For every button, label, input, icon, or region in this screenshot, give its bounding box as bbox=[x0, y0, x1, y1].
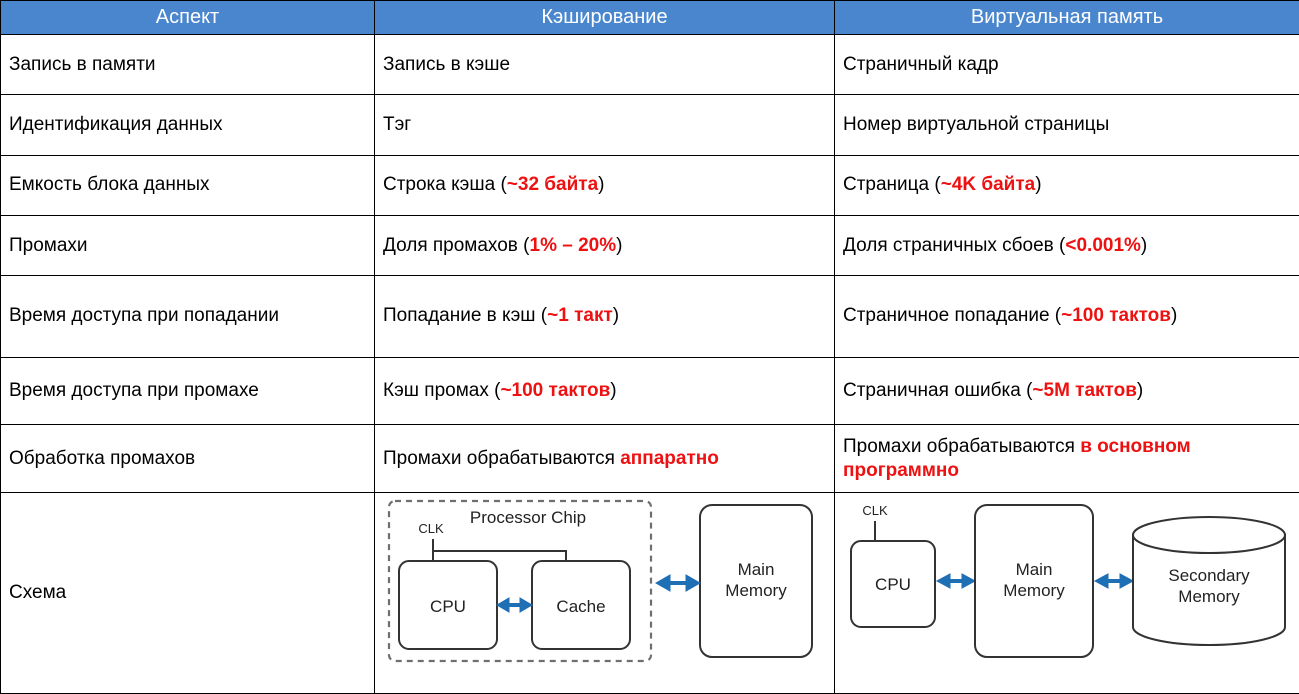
text-post: ) bbox=[1137, 380, 1143, 401]
text-post: ) bbox=[610, 380, 616, 401]
row-caching-value: Попадание в кэш (~1 такт) bbox=[375, 276, 835, 357]
text-pre: Доля страничных сбоев ( bbox=[843, 235, 1065, 256]
header-caching: Кэширование bbox=[375, 1, 835, 35]
header-aspect: Аспект bbox=[1, 1, 375, 35]
highlight-value: ~1 такт bbox=[547, 305, 613, 326]
table-row: Обработка промахов Промахи обрабатываютс… bbox=[1, 425, 1299, 493]
highlight-value: ~100 тактов bbox=[1061, 305, 1171, 326]
main-memory-label-line2: Memory bbox=[1003, 581, 1065, 600]
virtual-memory-diagram-cell: CLK CPU bbox=[835, 492, 1299, 693]
row-vm-value: Страничное попадание (~100 тактов) bbox=[835, 276, 1299, 357]
cpu-label: CPU bbox=[430, 597, 466, 616]
main-memory-label-line1: Main bbox=[1016, 560, 1053, 579]
text-pre: Строка кэша ( bbox=[383, 174, 507, 195]
table-row: Время доступа при попадании Попадание в … bbox=[1, 276, 1299, 357]
main-memory-label-line2: Memory bbox=[725, 581, 787, 600]
processor-chip-label: Processor Chip bbox=[470, 508, 586, 527]
mainmemory-secondary-arrow-icon bbox=[1095, 574, 1133, 588]
clk-label: CLK bbox=[862, 503, 888, 518]
text-pre: Запись в кэше bbox=[383, 54, 510, 75]
cache-mainmemory-arrow-icon bbox=[656, 575, 700, 591]
cpu-label: CPU bbox=[875, 575, 911, 594]
row-caching-value: Строка кэша (~32 байта) bbox=[375, 155, 835, 215]
secondary-memory-label-line1: Secondary bbox=[1168, 566, 1250, 585]
text-pre: Доля промахов ( bbox=[383, 235, 530, 256]
table-row: Емкость блока данных Строка кэша (~32 ба… bbox=[1, 155, 1299, 215]
text-pre: Страничное попадание ( bbox=[843, 305, 1061, 326]
highlight-value: <0.001% bbox=[1065, 235, 1141, 256]
table-row-diagram: Схема Processor Chip CLK bbox=[1, 492, 1299, 693]
text-pre: Промахи обрабатываются bbox=[383, 448, 620, 469]
cpu-mainmemory-arrow-icon bbox=[937, 574, 975, 588]
row-aspect-label: Время доступа при попадании bbox=[1, 276, 375, 357]
highlight-value: ~4K байта bbox=[941, 174, 1036, 195]
row-vm-value: Страница (~4K байта) bbox=[835, 155, 1299, 215]
highlight-value: ~5M тактов bbox=[1032, 380, 1137, 401]
clk-label: CLK bbox=[418, 521, 444, 536]
text-post: ) bbox=[616, 235, 622, 256]
text-post: ) bbox=[613, 305, 619, 326]
caching-diagram: Processor Chip CLK bbox=[383, 493, 826, 693]
row-aspect-label: Промахи bbox=[1, 215, 375, 275]
secondary-memory-label-line2: Memory bbox=[1178, 587, 1240, 606]
text-post: ) bbox=[1171, 305, 1177, 326]
table-row: Запись в памяти Запись в кэше Страничный… bbox=[1, 35, 1299, 95]
text-post: ) bbox=[1035, 174, 1041, 195]
row-caching-value: Запись в кэше bbox=[375, 35, 835, 95]
row-caching-value: Промахи обрабатываются аппаратно bbox=[375, 425, 835, 493]
virtual-memory-diagram: CLK CPU bbox=[843, 493, 1291, 693]
row-caching-value: Доля промахов (1% – 20%) bbox=[375, 215, 835, 275]
text-pre: Номер виртуальной страницы bbox=[843, 114, 1109, 135]
text-pre: Страничная ошибка ( bbox=[843, 380, 1032, 401]
row-vm-value: Доля страничных сбоев (<0.001%) bbox=[835, 215, 1299, 275]
main-memory-label-line1: Main bbox=[738, 560, 775, 579]
table-row: Время доступа при промахе Кэш промах (~1… bbox=[1, 357, 1299, 425]
header-virtual-memory: Виртуальная память bbox=[835, 1, 1299, 35]
row-caching-value: Кэш промах (~100 тактов) bbox=[375, 357, 835, 425]
row-aspect-label: Обработка промахов bbox=[1, 425, 375, 493]
row-aspect-label: Время доступа при промахе bbox=[1, 357, 375, 425]
text-pre: Промахи обрабатываются bbox=[843, 436, 1080, 457]
row-aspect-label-schema: Схема bbox=[1, 492, 375, 693]
text-post: ) bbox=[598, 174, 604, 195]
text-pre: Кэш промах ( bbox=[383, 380, 500, 401]
row-aspect-label: Емкость блока данных bbox=[1, 155, 375, 215]
virtual-memory-architecture-svg: CLK CPU bbox=[843, 493, 1294, 673]
row-aspect-label: Идентификация данных bbox=[1, 95, 375, 155]
caching-architecture-svg: Processor Chip CLK bbox=[383, 493, 829, 673]
caching-diagram-cell: Processor Chip CLK bbox=[375, 492, 835, 693]
highlight-value: аппаратно bbox=[620, 448, 719, 469]
comparison-table-page: Аспект Кэширование Виртуальная память За… bbox=[0, 0, 1299, 694]
row-vm-value: Номер виртуальной страницы bbox=[835, 95, 1299, 155]
text-pre: Попадание в кэш ( bbox=[383, 305, 547, 326]
text-pre: Страница ( bbox=[843, 174, 941, 195]
table-row: Промахи Доля промахов (1% – 20%) Доля ст… bbox=[1, 215, 1299, 275]
text-pre: Страничный кадр bbox=[843, 54, 999, 75]
row-caching-value: Тэг bbox=[375, 95, 835, 155]
highlight-value: ~100 тактов bbox=[500, 380, 610, 401]
text-pre: Тэг bbox=[383, 114, 411, 135]
row-aspect-label: Запись в памяти bbox=[1, 35, 375, 95]
highlight-value: 1% – 20% bbox=[530, 235, 617, 256]
clk-signal-line bbox=[433, 539, 566, 561]
table-header-row: Аспект Кэширование Виртуальная память bbox=[1, 1, 1299, 35]
text-post: ) bbox=[1141, 235, 1147, 256]
row-vm-value: Промахи обрабатываются в основном програ… bbox=[835, 425, 1299, 493]
row-vm-value: Страничная ошибка (~5M тактов) bbox=[835, 357, 1299, 425]
row-vm-value: Страничный кадр bbox=[835, 35, 1299, 95]
table-row: Идентификация данных Тэг Номер виртуальн… bbox=[1, 95, 1299, 155]
cache-vs-virtual-memory-table: Аспект Кэширование Виртуальная память За… bbox=[0, 0, 1299, 694]
highlight-value: ~32 байта bbox=[507, 174, 598, 195]
